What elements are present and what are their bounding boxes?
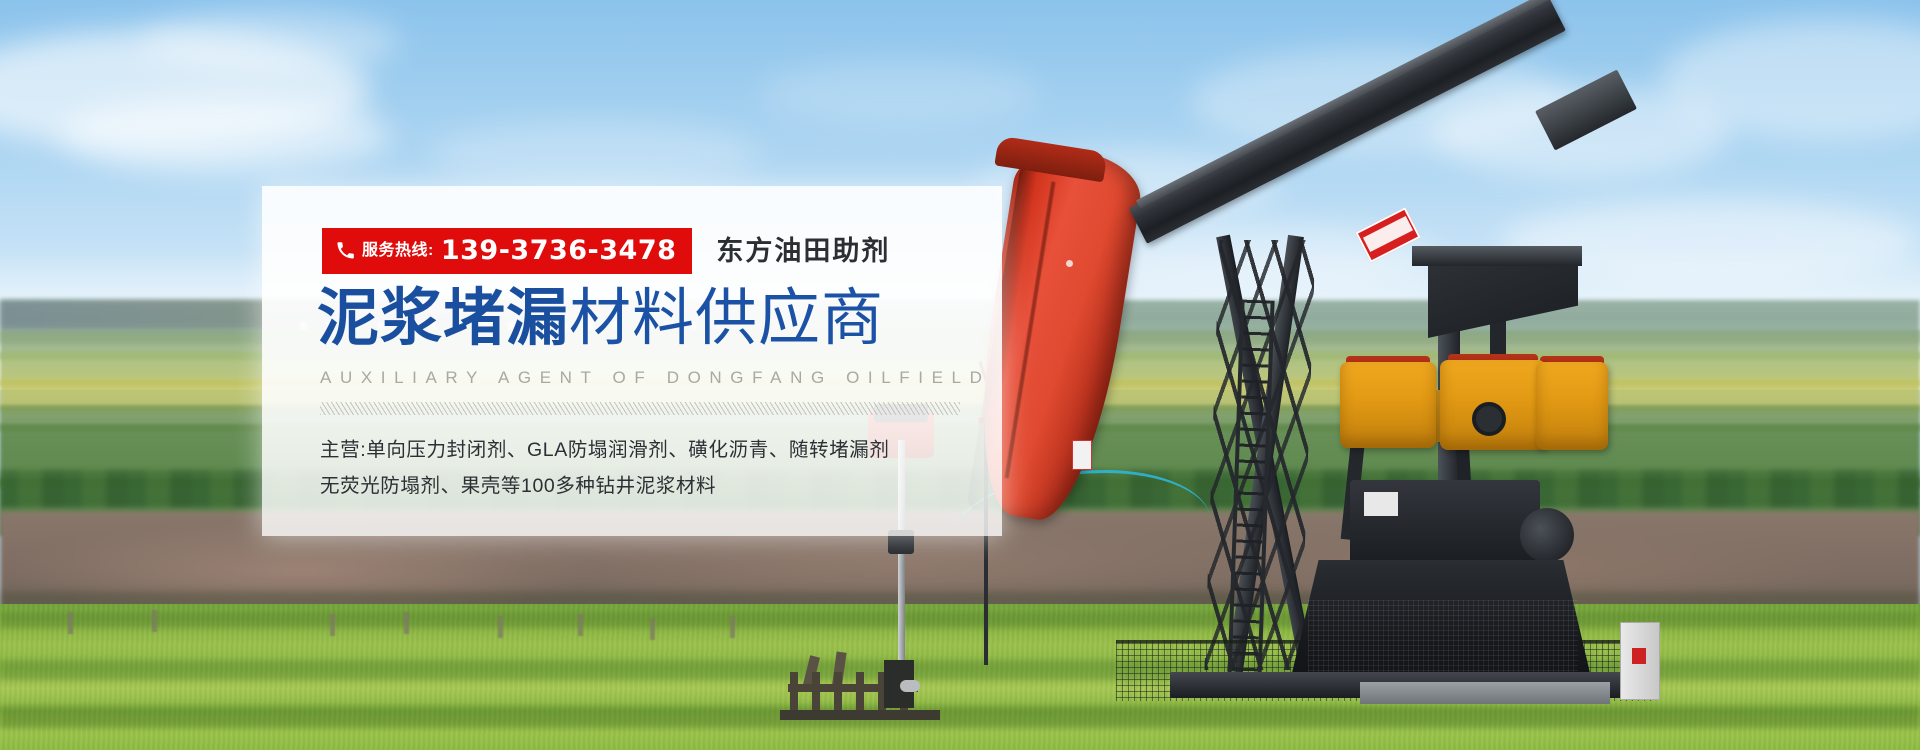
fence-post (68, 612, 73, 634)
english-subtitle: AUXILIARY AGENT OF DONGFANG OILFIELD (320, 368, 990, 388)
cloud (60, 96, 390, 174)
pressure-gauge (900, 680, 920, 692)
cabinet-marking (1632, 648, 1646, 664)
hotline-badge[interactable]: 服务热线: 139-3736-3478 (322, 228, 692, 274)
cloud (140, 10, 400, 74)
cloud (760, 60, 1040, 126)
hotline-label: 服务热线: (362, 243, 434, 259)
headline-rest: 材料供应商 (569, 284, 884, 353)
company-name: 东方油田助剂 (716, 238, 890, 265)
gearbox-label (1364, 492, 1398, 516)
wellhead-base (780, 710, 940, 720)
cloud (430, 120, 760, 190)
fence-post (330, 614, 335, 636)
text-panel: 服务热线: 139-3736-3478 东方油田助剂 泥浆堵漏材料供应商 AUX… (262, 186, 1002, 536)
headline: 泥浆堵漏材料供应商 (317, 286, 884, 353)
grass-shadow-band (0, 706, 1920, 728)
description-block: 主营:单向压力封闭剂、GLA防塌润滑剂、磺化沥青、随转堵漏剂 无荧光防塌剂、果壳… (320, 432, 889, 504)
counterweight (1340, 362, 1436, 448)
crank-hub (1472, 402, 1506, 436)
description-line: 主营:单向压力封闭剂、GLA防塌润滑剂、磺化沥青、随转堵漏剂 (320, 432, 889, 468)
phone-icon (336, 241, 355, 260)
fence-post (578, 614, 583, 636)
counterweight (1536, 362, 1608, 450)
walking-beam-cap (1535, 70, 1637, 151)
hotline-number: 139-3736-3478 (441, 237, 677, 264)
hotline-row: 服务热线: 139-3736-3478 东方油田助剂 (322, 228, 890, 274)
horsehead-bolt (1066, 260, 1073, 267)
hatch-divider (320, 402, 960, 415)
headline-emphasis: 泥浆堵漏 (317, 284, 569, 353)
cross-arm (1412, 246, 1582, 266)
fence-post (152, 610, 157, 632)
fence-post (730, 616, 735, 638)
fence-post (650, 618, 655, 640)
description-line: 无荧光防塌剂、果壳等100多种钻井泥浆材料 (320, 468, 889, 504)
motor-pulley (1520, 508, 1574, 562)
concrete-pad (1360, 682, 1610, 704)
fence-post (404, 612, 409, 634)
fence-post (498, 616, 503, 638)
oil-pumpjack (1020, 60, 1640, 700)
promo-banner: 服务热线: 139-3736-3478 东方油田助剂 泥浆堵漏材料供应商 AUX… (0, 0, 1920, 750)
warning-plate (1072, 440, 1092, 470)
